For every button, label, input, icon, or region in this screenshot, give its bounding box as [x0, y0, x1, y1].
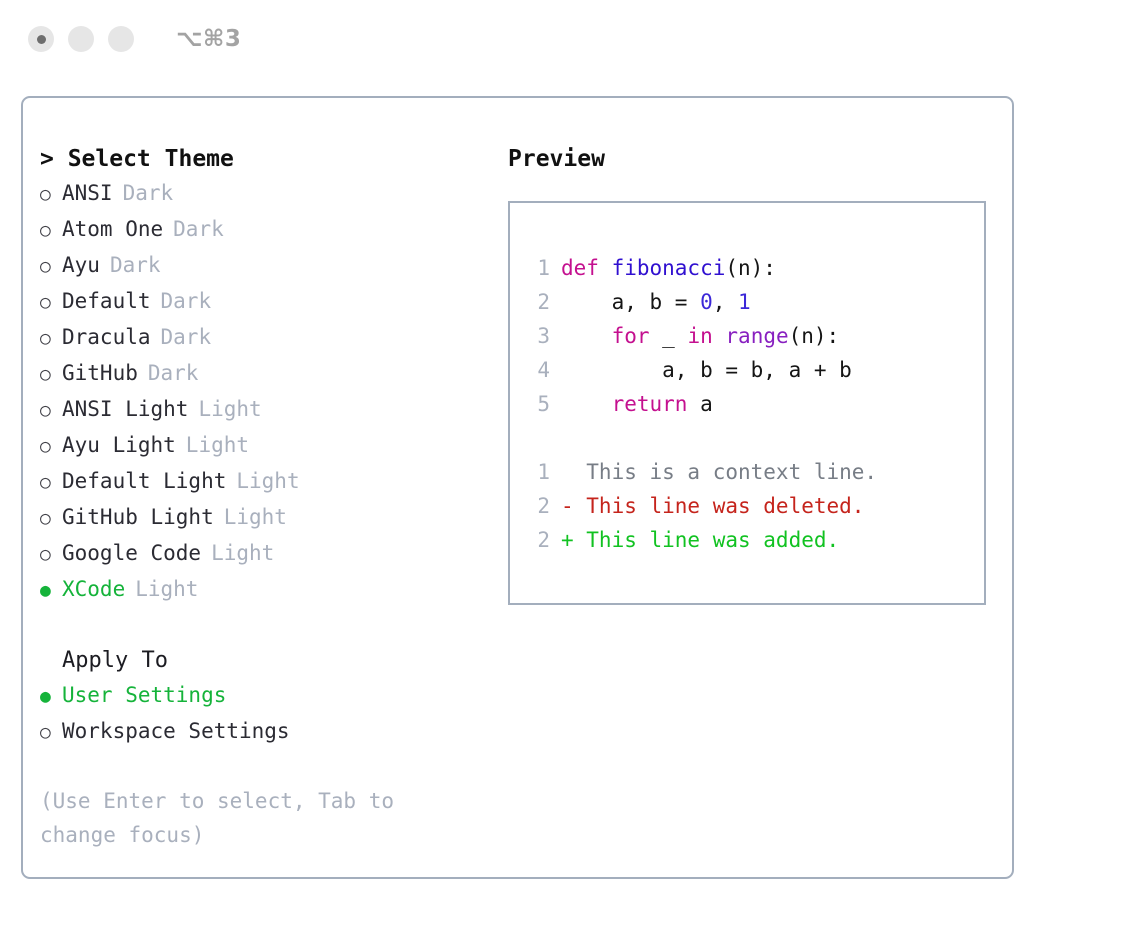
window-dot-close-icon[interactable]: [28, 26, 54, 52]
preview-column: Preview 1def fibonacci(n):2 a, b = 0, 13…: [493, 142, 1012, 877]
code-line: 2 a, b = 0, 1: [528, 285, 984, 319]
code-spacer: [528, 421, 984, 455]
theme-variant-badge: Dark: [148, 356, 199, 390]
keyboard-shortcut-label: ⌥⌘3: [176, 26, 241, 52]
theme-variant-badge: Dark: [173, 212, 224, 246]
line-number: 3: [528, 319, 550, 353]
theme-variant-badge: Dark: [123, 176, 174, 210]
apply-to-list: ●User Settings○Workspace Settings: [40, 678, 493, 750]
window-dot-maximize-icon[interactable]: [108, 26, 134, 52]
theme-list: ○ANSIDark○Atom OneDark○AyuDark○DefaultDa…: [40, 176, 493, 608]
keyboard-hint-text: (Use Enter to select, Tab to change focu…: [40, 784, 440, 852]
theme-option-label: XCode: [62, 572, 125, 606]
theme-variant-badge: Light: [186, 428, 249, 462]
theme-option-label: ANSI Light: [62, 392, 188, 426]
code-token: a, b = b, a + b: [561, 358, 852, 382]
code-token: [561, 324, 612, 348]
code-token: (n):: [725, 256, 776, 280]
preview-box: 1def fibonacci(n):2 a, b = 0, 13 for _ i…: [508, 201, 986, 605]
theme-variant-badge: Light: [236, 464, 299, 498]
theme-variant-badge: Light: [198, 392, 261, 426]
line-number: 1: [528, 455, 550, 489]
theme-variant-badge: Light: [224, 500, 287, 534]
theme-option-label: Default: [62, 284, 151, 318]
code-token: (n):: [789, 324, 840, 348]
theme-option-label: Ayu: [62, 248, 100, 282]
title-bar: ⌥⌘3: [0, 0, 1140, 78]
diff-line: 2+ This line was added.: [528, 523, 984, 557]
theme-variant-badge: Light: [135, 572, 198, 606]
diff-line-text: - This line was deleted.: [561, 494, 864, 518]
apply-to-option-label: User Settings: [62, 678, 226, 712]
radio-unselected-icon: ○: [40, 430, 62, 464]
code-line: 3 for _ in range(n):: [528, 319, 984, 353]
radio-unselected-icon: ○: [40, 322, 62, 356]
code-token: a, b =: [561, 290, 700, 314]
app-window: ⌥⌘3 > Select Theme ○ANSIDark○Atom OneDar…: [0, 0, 1140, 934]
radio-unselected-icon: ○: [40, 466, 62, 500]
line-number: 5: [528, 387, 550, 421]
theme-option-ansi[interactable]: ○ANSIDark: [40, 176, 493, 212]
line-number: 2: [528, 523, 550, 557]
theme-option-xcode[interactable]: ●XCodeLight: [40, 572, 493, 608]
apply-to-heading: Apply To: [40, 644, 493, 678]
code-line: 5 return a: [528, 387, 984, 421]
theme-option-label: Ayu Light: [62, 428, 176, 462]
radio-unselected-icon: ○: [40, 394, 62, 428]
radio-unselected-icon: ○: [40, 286, 62, 320]
theme-option-atom-one[interactable]: ○Atom OneDark: [40, 212, 493, 248]
theme-option-github-light[interactable]: ○GitHub LightLight: [40, 500, 493, 536]
theme-option-label: Default Light: [62, 464, 226, 498]
theme-option-github[interactable]: ○GitHubDark: [40, 356, 493, 392]
diff-sample: 1 This is a context line.2- This line wa…: [528, 455, 984, 557]
radio-selected-icon: ●: [40, 574, 62, 608]
radio-unselected-icon: ○: [40, 502, 62, 536]
theme-option-ansi-light[interactable]: ○ANSI LightLight: [40, 392, 493, 428]
theme-option-ayu[interactable]: ○AyuDark: [40, 248, 493, 284]
code-line: 1def fibonacci(n):: [528, 251, 984, 285]
theme-option-label: Google Code: [62, 536, 201, 570]
theme-option-google-code[interactable]: ○Google CodeLight: [40, 536, 493, 572]
code-token: [561, 392, 612, 416]
theme-option-label: GitHub Light: [62, 500, 214, 534]
code-token: for: [612, 324, 650, 348]
window-dot-minimize-icon[interactable]: [68, 26, 94, 52]
code-token: fibonacci: [612, 256, 726, 280]
apply-to-option-user-settings[interactable]: ●User Settings: [40, 678, 493, 714]
line-number: 2: [528, 489, 550, 523]
diff-line-text: This is a context line.: [561, 460, 877, 484]
theme-option-default-light[interactable]: ○Default LightLight: [40, 464, 493, 500]
main-panel: > Select Theme ○ANSIDark○Atom OneDark○Ay…: [21, 96, 1014, 879]
preview-title: Preview: [508, 142, 1012, 176]
diff-line-text: + This line was added.: [561, 528, 839, 552]
code-token: 1: [738, 290, 751, 314]
theme-option-label: GitHub: [62, 356, 138, 390]
window-controls: [28, 26, 134, 52]
theme-picker-column: > Select Theme ○ANSIDark○Atom OneDark○Ay…: [23, 142, 493, 877]
code-token: [713, 324, 726, 348]
code-token: def: [561, 256, 612, 280]
theme-option-dracula[interactable]: ○DraculaDark: [40, 320, 493, 356]
radio-unselected-icon: ○: [40, 538, 62, 572]
apply-to-option-workspace-settings[interactable]: ○Workspace Settings: [40, 714, 493, 750]
theme-option-ayu-light[interactable]: ○Ayu LightLight: [40, 428, 493, 464]
code-token: range: [725, 324, 788, 348]
code-token: ,: [713, 290, 738, 314]
diff-line: 2- This line was deleted.: [528, 489, 984, 523]
code-token: 0: [700, 290, 713, 314]
line-number: 2: [528, 285, 550, 319]
radio-unselected-icon: ○: [40, 250, 62, 284]
code-line: 4 a, b = b, a + b: [528, 353, 984, 387]
radio-unselected-icon: ○: [40, 716, 62, 750]
code-token: in: [687, 324, 712, 348]
radio-unselected-icon: ○: [40, 178, 62, 212]
radio-selected-icon: ●: [40, 680, 62, 714]
theme-option-label: Atom One: [62, 212, 163, 246]
code-token: _: [650, 324, 688, 348]
theme-option-label: ANSI: [62, 176, 113, 210]
theme-variant-badge: Dark: [110, 248, 161, 282]
radio-unselected-icon: ○: [40, 358, 62, 392]
code-token: a: [687, 392, 712, 416]
theme-variant-badge: Dark: [161, 320, 212, 354]
code-token: return: [612, 392, 688, 416]
line-number: 1: [528, 251, 550, 285]
theme-option-default[interactable]: ○DefaultDark: [40, 284, 493, 320]
theme-variant-badge: Light: [211, 536, 274, 570]
line-number: 4: [528, 353, 550, 387]
radio-unselected-icon: ○: [40, 214, 62, 248]
apply-to-option-label: Workspace Settings: [62, 714, 290, 748]
theme-variant-badge: Dark: [161, 284, 212, 318]
code-sample: 1def fibonacci(n):2 a, b = 0, 13 for _ i…: [528, 251, 984, 421]
diff-line: 1 This is a context line.: [528, 455, 984, 489]
theme-option-label: Dracula: [62, 320, 151, 354]
select-theme-heading: > Select Theme: [40, 142, 493, 176]
